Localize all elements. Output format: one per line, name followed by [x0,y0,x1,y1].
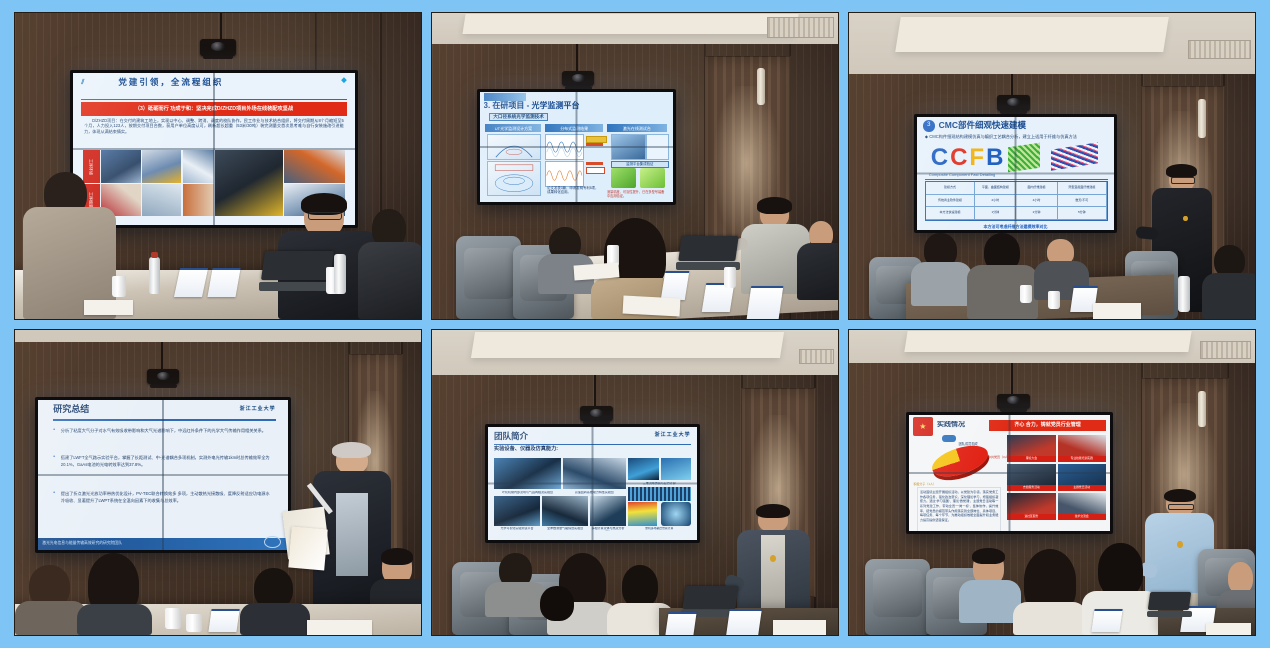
attendee-front-woman [1015,549,1084,635]
bullet-marker-icon: • [53,454,55,460]
photo-panel-top-left[interactable]: Conference room, dark wood wall, wall-mo… [14,12,422,320]
cfd-contour [661,458,690,481]
photo-panel-top-middle[interactable]: Conference room, presenter gesturing whi… [431,12,839,320]
slide-footer: 本方法可考虑纤维方法建模效率对比 [917,224,1114,229]
table-header: 建模方式 [926,182,975,194]
slide-caption: 叶轮机械内部流场与气固两相流实验台 [494,491,561,496]
collage-grid: Conference room, dark wood wall, wall-mo… [14,12,1256,636]
conference-room: ★ 实践情况 齐心 合力，铸就党员行业管理 团队成员构成 中共党员（3人） 积极… [849,330,1255,636]
slide-footer: 激光光电信息与能量传输高效研究的研究院团队 [38,538,288,550]
ceiling-camera-icon [580,406,612,421]
device-photo [646,134,669,160]
nameplate [666,612,698,635]
slide-bullet: 搭建了LWFT全气路示实验平台，掌握了长距测试、中-光谱耦合多项机制，实测外电光… [61,454,273,487]
seated-attendee-right [1206,245,1255,318]
decor-vase [757,68,765,105]
bullet-marker-icon: • [53,490,55,496]
slide-caption: 高速回转系统动力特性实验台 [563,491,626,496]
audience-back-left [538,227,595,294]
diagram-thumbnail [487,161,541,196]
table-cell: 2小时 [975,195,1016,207]
nameplate [661,271,690,300]
document [574,262,620,280]
slide-photo [183,150,214,182]
video-wall-screen: 3 CMC部件细观快速建模 ◆ CMC构件细观结构建模仿真与编织工艺耦合分析，建… [914,114,1117,233]
highlight-chip [586,136,607,142]
document [1093,303,1142,318]
thermos [1178,276,1190,313]
slide-column-header: 分布式监测结果 [545,124,603,132]
decor-vase [1198,391,1206,428]
slide-research-summary: 研究总结 浙江工业大学 分析了粘度大气分子对水气有效吸收带影响和大气光谱影响下，… [38,400,288,550]
ccfb-letter: F [969,146,984,170]
lattice-render [1051,142,1098,171]
photo-caption: 进社区服务 [1007,514,1055,520]
slide-red-banner: 齐心 合力，铸就党员行业管理 [989,420,1106,432]
weave-render [1008,143,1040,172]
slide-bullet: 测量精度、可靠性提升，已在多型号装备中应用验证。 [607,190,667,200]
photo-panel-bottom-left[interactable]: Conference room, grey-haired presenter h… [14,329,422,637]
cfd-contour [628,458,659,481]
water-bottle [149,257,160,294]
slide-cmc-modeling: 3 CMC部件细观快速建模 ◆ CMC构件细观结构建模仿真与编织工艺耦合分析，建… [917,117,1114,230]
device-photo [611,134,646,160]
highlight-chip [586,167,605,173]
model-render [611,168,636,188]
slide-photo [215,150,283,216]
slide-subtitle: 大口径系统光学监测技术 [489,113,548,121]
highlight-chip [586,143,603,146]
document [1206,623,1251,635]
slide-header-logo [484,93,526,101]
party-emblem-icon: ★ [913,417,933,436]
slide-paragraph: 活动围绕主题开展组织活动，以党建为引领，落实党务工作各项任务，强化政治意识，深化… [917,487,1001,531]
table-cell: 2分钟 [1016,207,1057,219]
paper-cup [165,608,181,629]
waveform-thumbnail [545,161,584,187]
laptop [1149,592,1190,616]
slide-column-header: UT光学监测设计方案 [485,124,541,132]
paper-cup [1048,291,1060,309]
seated-attendee-row-front [914,233,971,306]
lapel-pin-icon [770,555,776,561]
table-header: 面内纤维建模 [1016,182,1057,194]
slide-photo [142,150,182,182]
slide-photo [284,150,345,182]
lab-photo [563,458,626,490]
slide-bullet: ◆ CMC构件细观结构建模仿真与编织工艺耦合分析，建立上适用于纤维与仿真方法 [925,134,1108,143]
attendee-right-folded-hands [801,221,838,300]
nameplate [746,286,783,319]
office-chair [456,236,521,318]
lab-photo [590,496,626,525]
university-seal-icon [264,536,281,548]
ccfb-letter: C [931,146,948,170]
bullet-marker-icon: • [53,427,55,433]
slide-column-header: 激光在线测试台 [607,124,667,132]
nameplate [207,268,241,297]
ccfb-caption: Composite Component Fast Detailing [929,172,995,177]
slide-caption: 三维流场仿真与应力计算 [628,482,691,487]
slide-title: 实践情况 [937,421,965,430]
university-logo: 浙江工业大学 [655,432,691,438]
paper-cup [724,267,736,288]
slide-title: 研究总结 [53,404,89,415]
slide-team-intro: 团队简介 浙江工业大学 实验设备、仪器及仿真能力: 三维流场仿真与应力计算 叶轮… [488,427,697,540]
slide-caption: 光学可视化实验测试平台 [494,527,540,532]
university-logo: 浙江工业大学 [240,406,276,412]
stress-contour [628,502,657,526]
slide-bullet: 论文发表3篇，申请发明专利5项，成果转化应用。 [547,186,601,200]
attendee-left-back [23,172,116,319]
document [84,300,133,315]
model-render [640,168,665,188]
slide-paragraph: D/ZHZD项目：在交付的建筑工地上，实现以中心、调整、跨消、调度的校队协作，民… [84,118,344,149]
slide-number-badge: 3 [923,120,935,131]
attendee-front-right [242,568,307,635]
lab-photo [542,496,588,525]
audience-back-4 [529,586,586,635]
slide-optics-project: 3. 在研项目 - 光学监测平台 大口径系统光学监测技术 UT光学监测设计方案 … [480,92,673,202]
activity-photo [1007,435,1055,456]
slide-party-activity: ★ 实践情况 齐心 合力，铸就党员行业管理 团队成员构成 中共党员（3人） 积极… [909,415,1110,531]
slide-title: 3. 在研项目 - 光学监测平台 [484,101,580,111]
document [622,296,680,317]
decor-vase [1198,99,1206,139]
swoosh-logo-icon: ⫽ [81,79,84,88]
slide-title: 团队简介 [494,431,528,442]
photo-caption: 技术交流会 [1058,514,1106,520]
corp-logo-icon: ◆ [341,77,346,86]
laptop [680,236,737,270]
photo-panel-bottom-right[interactable]: Conference room, young presenter in ligh… [848,329,1256,637]
dome-diagram-icon [488,162,540,195]
waveform-thumbnail [545,134,584,160]
attendee-front-center [80,553,149,635]
activity-photo [1058,493,1106,514]
ccfb-wordmark: C C F B [931,144,1004,171]
table-cell: 传统商业软件建模 [926,195,975,207]
slide-caption: 全参数测量气路综合实验台 [542,527,588,532]
document [307,620,372,635]
camera-cable [220,13,222,40]
table-header: 平面、曲面结构建模 [975,182,1016,194]
photo-caption: 主题党日活动 [1058,485,1106,491]
table-header: 异型变截面纤维建模 [1058,182,1107,194]
lapel-pin-icon [1177,541,1183,548]
paper-cup [186,614,202,632]
laptop [263,251,332,291]
comparison-table: 建模方式 平面、曲面结构建模 面内纤维建模 异型变截面纤维建模 传统商业软件建模… [925,181,1108,220]
lapel-pin-icon [1183,216,1188,222]
attendee-front-glasses [963,549,1020,622]
table-cell: 5分钟 [1058,207,1107,219]
nameplate [727,609,763,635]
slide-title: CMC部件细观快速建模 [939,120,1026,131]
attendee-front-left [19,565,84,635]
nameplate [1091,609,1123,632]
slide-caption: 整机多场耦合仿真计算 [628,527,691,534]
video-wall-screen: ★ 实践情况 齐心 合力，铸就党员行业管理 团队成员构成 中共党员（3人） 积极… [906,412,1113,534]
seated-attendee-row-front [971,233,1036,319]
photo-caption: 志愿服务活动 [1007,485,1055,491]
lab-photo [494,458,561,490]
table-cell: 数天/不可 [1058,195,1107,207]
ccfb-letter: C [950,146,967,170]
photo-panel-bottom-middle[interactable]: Conference room, presenter in blazer sta… [431,329,839,637]
nameplate [208,609,240,632]
chart-thumbnail [487,134,541,160]
slide-photo [142,184,182,216]
ceiling-camera-icon [562,71,594,86]
document [773,620,826,635]
waveform-icon [546,135,583,159]
ceiling-camera-icon [147,369,179,384]
slide-caption: 监测平台集成验证 [611,161,669,169]
activity-photo [1007,464,1055,485]
video-wall-screen: 3. 在研项目 - 光学监测平台 大口径系统光学监测技术 UT光学监测设计方案 … [477,89,676,205]
slide-caption: 多相计算流体与热流分析模块 [590,527,626,532]
conference-room: 3 CMC部件细观快速建模 ◆ CMC构件细观结构建模仿真与编织工艺耦合分析，建… [849,13,1255,319]
curve-plot-icon [488,135,540,159]
conference-room: 3. 在研项目 - 光学监测平台 大口径系统光学监测技术 UT光学监测设计方案 … [432,13,838,319]
cfd-contour [628,487,691,501]
shirt-front [761,535,784,612]
eyeglasses-icon [1171,177,1195,183]
highlight-chip [586,162,603,165]
photo-panel-top-right[interactable]: Conference room, speaker standing at rig… [848,12,1256,320]
ccfb-letter: B [986,146,1003,170]
table-cell: 4小时 [1016,195,1057,207]
paper-cup [1020,285,1032,303]
shirt-front [336,493,368,576]
waveform-icon [546,162,583,186]
printed-photos [289,527,328,571]
slide-red-banner: （3）砥砺而行 功成于和：坚决完成D/ZHZD项目外场在线装配攻坚战 [81,102,346,116]
slide-photo [183,184,214,216]
ceiling-camera-icon [997,95,1029,110]
pie-label: 积极分子（1人） [913,483,936,487]
photo-caption: 专业技能培训实践 [1058,456,1106,462]
eyeglasses-icon [1168,504,1193,510]
ceiling-camera-icon [200,39,237,56]
eyeglasses-icon [308,212,342,220]
pie-chart: 团队成员构成 中共党员（3人） 积极分子（1人） [917,438,1005,484]
photo-collage: Conference room, dark wood wall, wall-mo… [0,0,1270,648]
slide-bullet: 分析了粘度大气分子对水气有效吸收带影响和大气光谱影响下，中远红外条件下的光学大气… [61,427,273,451]
ceiling-camera-icon [997,394,1029,409]
photo-caption: 理论大会 [1007,456,1055,462]
rotor-render [661,502,690,526]
lab-photo [494,496,540,525]
table-cell: 1分钟 [975,207,1016,219]
activity-photo [1058,435,1106,456]
office-chair [865,559,930,635]
thermos [334,254,346,294]
slide-subtitle: 实验设备、仪器及仿真能力: [494,446,558,453]
slide-bullet: 提出了折点激光光放功率带热优化设计，PV-TEC联合转换效多 多项，主动散热光接… [61,490,273,526]
slide-title: 党建引领，全流程组织 [118,77,223,88]
conference-room: 研究总结 浙江工业大学 分析了粘度大气分子对水气有效吸收带影响和大气光谱影响下，… [15,330,421,636]
table-cell: 本方法快速建模 [926,207,975,219]
paper-cup [112,276,126,297]
conference-room: 团队简介 浙江工业大学 实验设备、仪器及仿真能力: 三维流场仿真与应力计算 叶轮… [432,330,838,636]
attendee-far-right [360,209,421,319]
conference-room: ⫽ 党建引领，全流程组织 ◆ （3）砥砺而行 功成于和：坚决完成D/ZHZD项目… [15,13,421,319]
activity-photo [1058,464,1106,485]
video-wall-screen: 研究总结 浙江工业大学 分析了粘度大气分子对水气有效吸收带影响和大气光谱影响下，… [35,397,291,553]
activity-photo [1007,493,1055,514]
video-wall-screen: 团队简介 浙江工业大学 实验设备、仪器及仿真能力: 三维流场仿真与应力计算 叶轮… [485,424,700,543]
